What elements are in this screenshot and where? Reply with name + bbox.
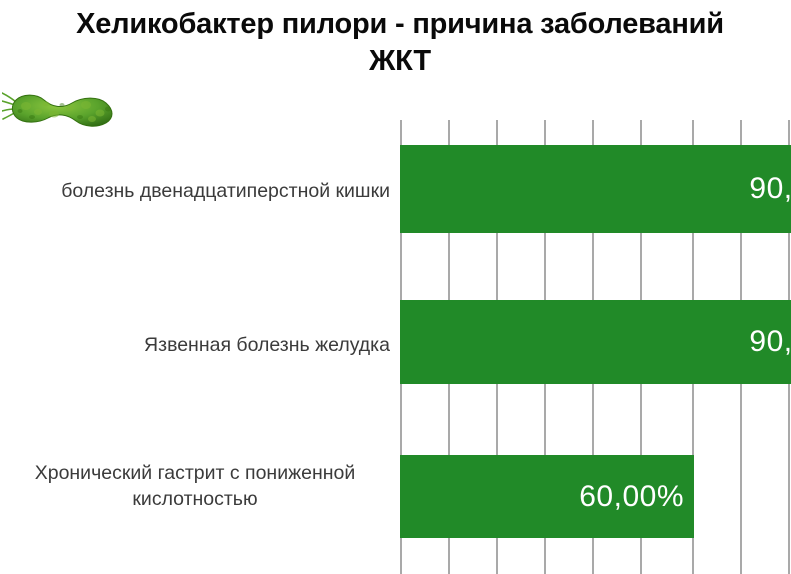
bar-value-label: 60,00% bbox=[579, 480, 684, 514]
bar-value-label: 90,00 bbox=[749, 172, 791, 206]
bar-value-label: 90,00 bbox=[749, 325, 791, 359]
chart-canvas: Хеликобактер пилори - причина заболевани… bbox=[0, 0, 791, 574]
bar-duodenal-ulcer[interactable]: 90,00 bbox=[400, 145, 791, 233]
category-axis: болезнь двенадцатиперстной кишки Язвенна… bbox=[6, 120, 400, 574]
category-label-stomach-ulcer: Язвенная болезнь желудка bbox=[144, 332, 390, 358]
chart-title: Хеликобактер пилори - причина заболевани… bbox=[60, 6, 740, 80]
bar-chronic-gastritis[interactable]: 60,00% bbox=[400, 455, 694, 538]
bar-stomach-ulcer[interactable]: 90,00 bbox=[400, 300, 791, 384]
category-label-duodenal-ulcer: болезнь двенадцатиперстной кишки bbox=[61, 178, 390, 204]
plot-area: 90,00 90,00 60,00% болезнь двенадцатипер… bbox=[400, 120, 791, 574]
category-label-chronic-gastritis: Хронический гастрит с пониженной кислотн… bbox=[0, 460, 390, 513]
